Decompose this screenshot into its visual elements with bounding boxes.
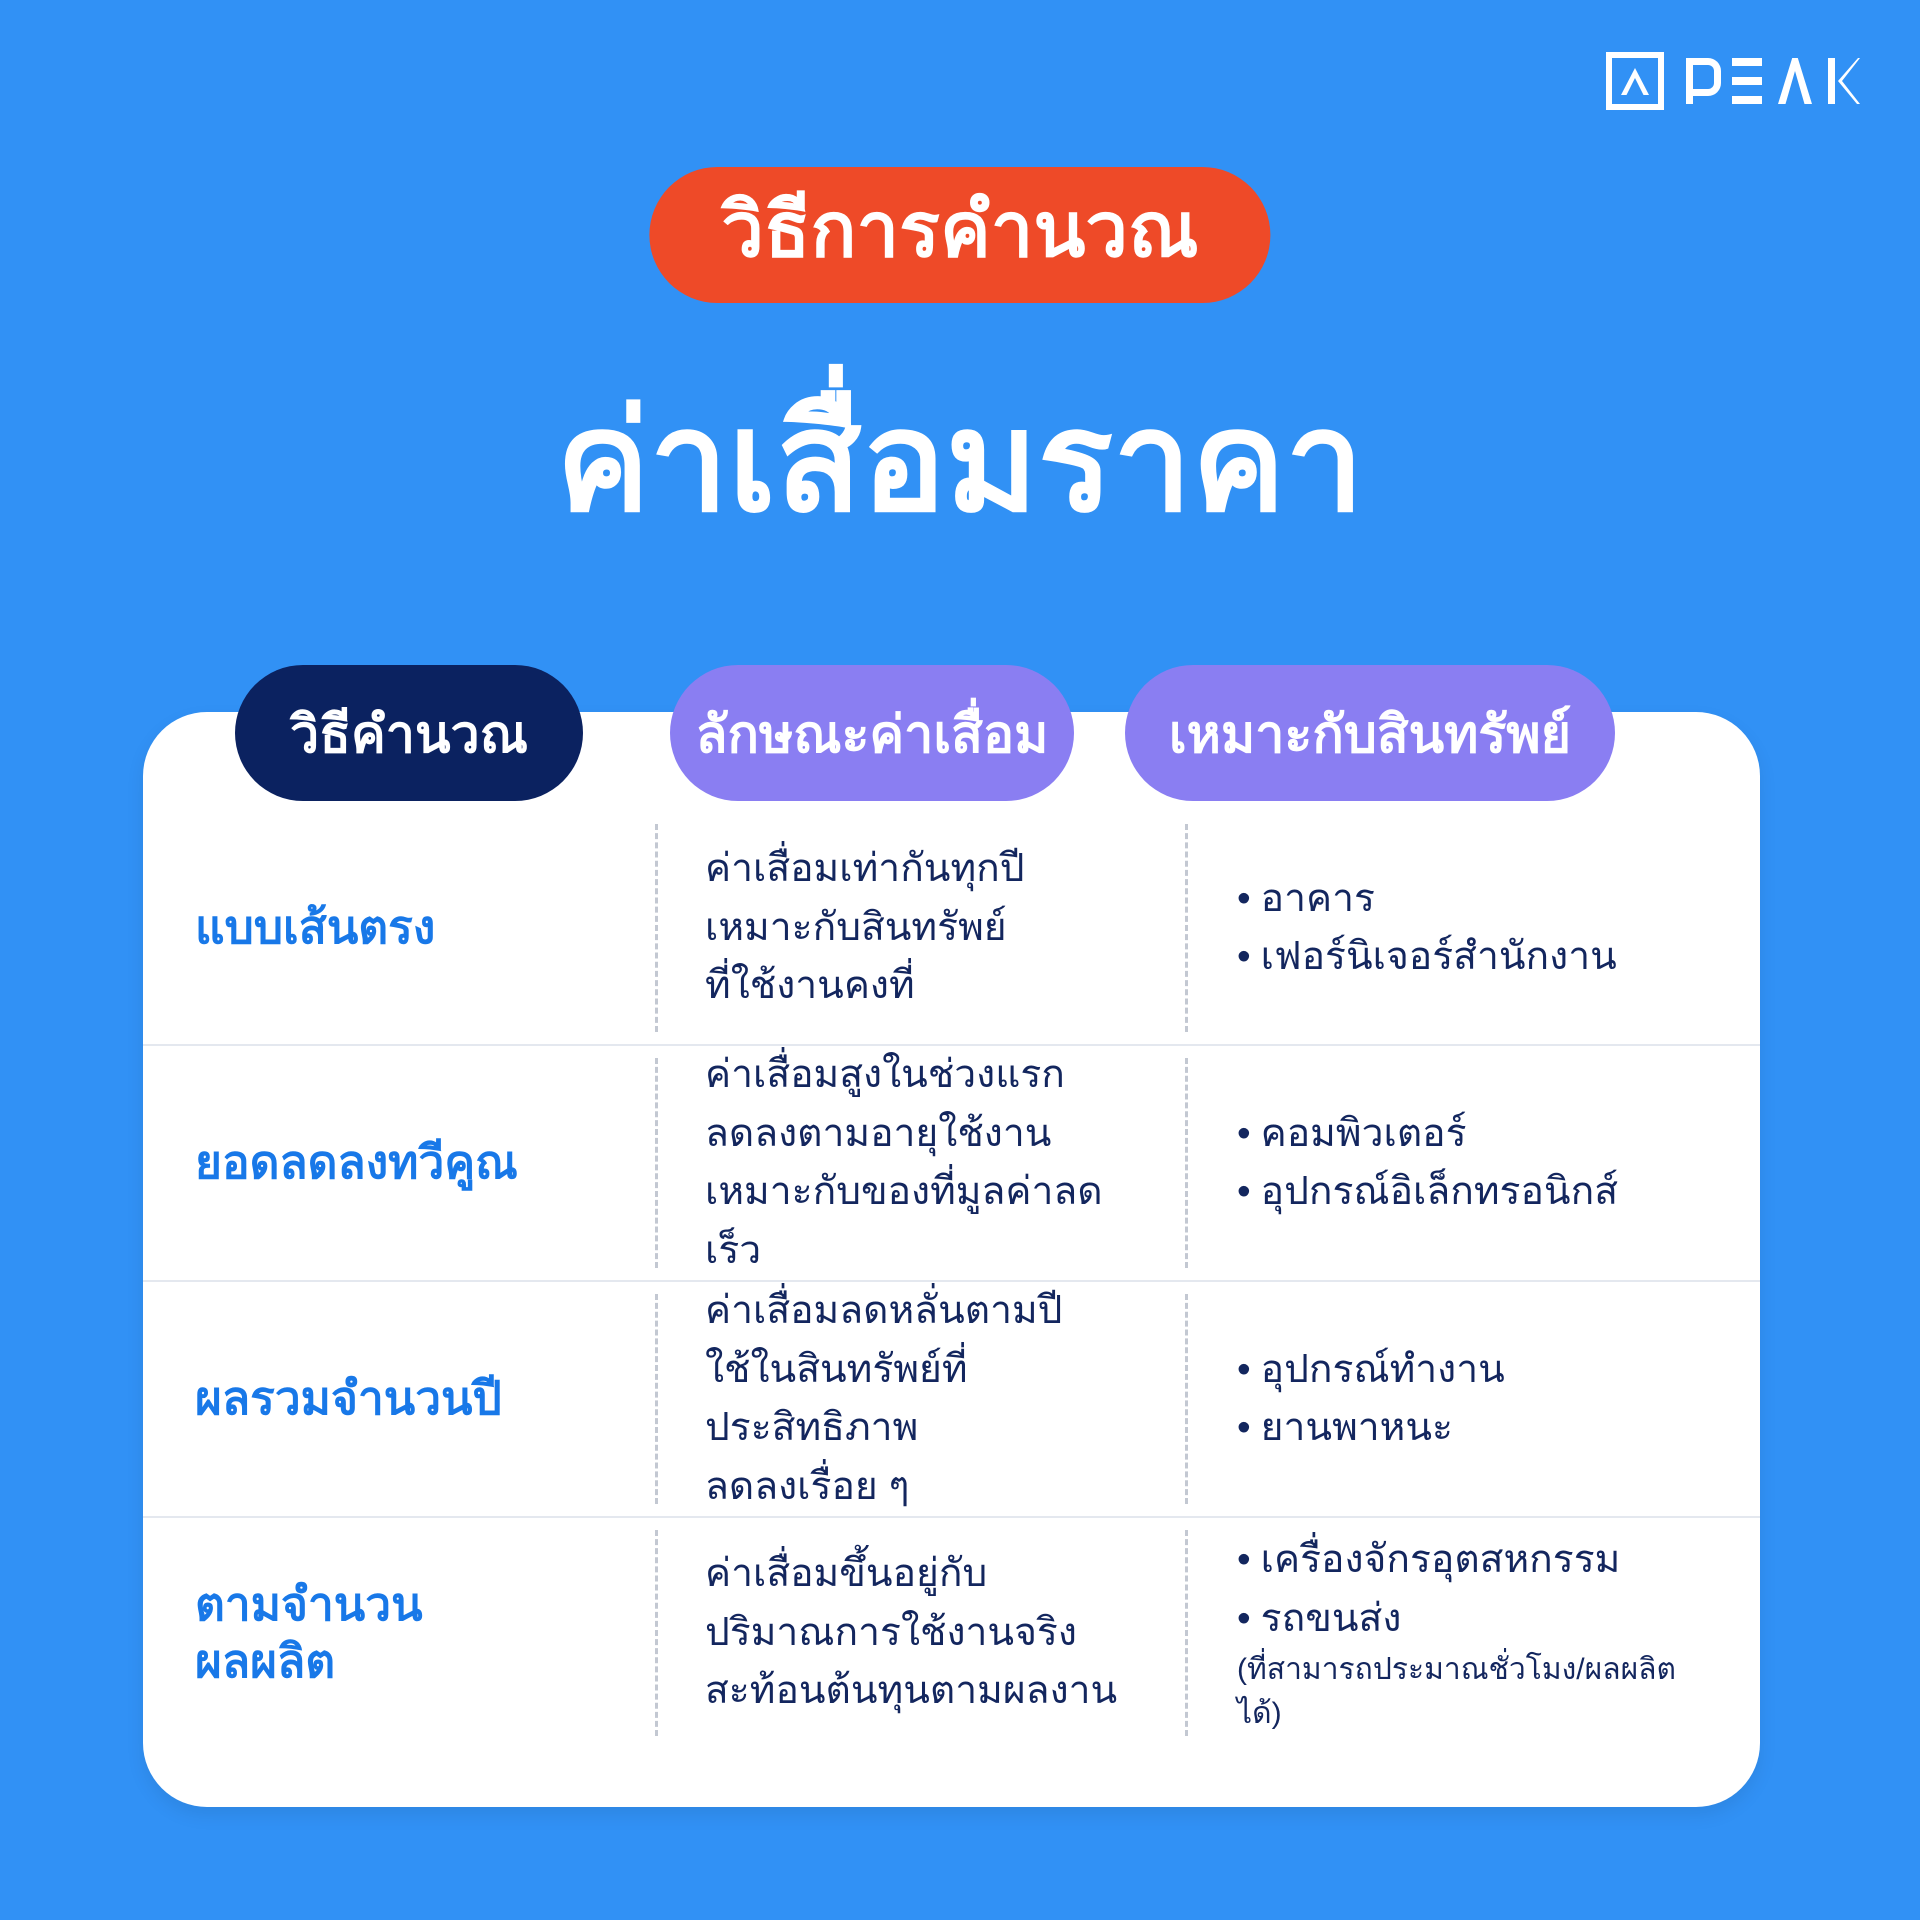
peak-logo-mark-icon	[1606, 52, 1664, 110]
row-assets: อาคาร เฟอร์นิเจอร์สำนักงาน	[1185, 870, 1760, 987]
row-assets: เครื่องจักรอุตสหกรรม รถขนส่ง (ที่สามารถป…	[1185, 1531, 1760, 1735]
list-item: เฟอร์นิเจอร์สำนักงาน	[1237, 928, 1720, 987]
column-header-assets: เหมาะกับสินทรัพย์	[1125, 665, 1615, 801]
row-description: ค่าเสื่อมขึ้นอยู่กับปริมาณการใช้งานจริงส…	[655, 1545, 1185, 1721]
kicker-badge: วิธีการคำนวณ	[649, 167, 1270, 303]
page-title: ค่าเสื่อมราคา	[556, 385, 1364, 539]
list-item: ยานพาหนะ	[1237, 1399, 1720, 1458]
list-item: เครื่องจักรอุตสหกรรม	[1237, 1531, 1720, 1590]
logo-letter-p-icon	[1686, 58, 1716, 104]
row-description: ค่าเสื่อมลดหลั่นตามปีใช้ในสินทรัพย์ที่ปร…	[655, 1282, 1185, 1516]
list-item: อุปกรณ์ทำงาน	[1237, 1341, 1720, 1400]
column-header-characteristic: ลักษณะค่าเสื่อม	[670, 665, 1074, 801]
logo-letter-k-icon	[1828, 58, 1860, 104]
list-item: รถขนส่ง	[1237, 1590, 1720, 1649]
logo-letter-e-icon	[1732, 58, 1762, 104]
row-assets: คอมพิวเตอร์ อุปกรณ์อิเล็กทรอนิกส์	[1185, 1105, 1760, 1222]
row-assets: อุปกรณ์ทำงาน ยานพาหนะ	[1185, 1341, 1760, 1458]
list-item: คอมพิวเตอร์	[1237, 1105, 1720, 1164]
table-row: ยอดลดลงทวีคูณ ค่าเสื่อมสูงในช่วงแรกลดลงต…	[143, 1044, 1760, 1280]
row-method-name: ผลรวมจำนวนปี	[143, 1370, 655, 1428]
comparison-table: แบบเส้นตรง ค่าเสื่อมเท่ากันทุกปีเหมาะกับ…	[143, 812, 1760, 1748]
row-description: ค่าเสื่อมสูงในช่วงแรกลดลงตามอายุใช้งานเห…	[655, 1046, 1185, 1280]
list-item: อาคาร	[1237, 870, 1720, 929]
table-row: ผลรวมจำนวนปี ค่าเสื่อมลดหลั่นตามปีใช้ในส…	[143, 1280, 1760, 1516]
row-description: ค่าเสื่อมเท่ากันทุกปีเหมาะกับสินทรัพย์ที…	[655, 840, 1185, 1016]
table-row: ตามจำนวนผลผลิต ค่าเสื่อมขึ้นอยู่กับปริมา…	[143, 1516, 1760, 1748]
column-header-method: วิธีคำนวณ	[235, 665, 583, 801]
row-method-name: ยอดลดลงทวีคูณ	[143, 1134, 655, 1192]
logo-letter-a-icon	[1778, 58, 1812, 104]
table-header-pills: วิธีคำนวณ ลักษณะค่าเสื่อม เหมาะกับสินทรั…	[143, 665, 1760, 805]
list-item: อุปกรณ์อิเล็กทรอนิกส์	[1237, 1163, 1720, 1222]
table-row: แบบเส้นตรง ค่าเสื่อมเท่ากันทุกปีเหมาะกับ…	[143, 812, 1760, 1044]
row-method-name: ตามจำนวนผลผลิต	[143, 1576, 655, 1691]
peak-logo: PEAK	[1606, 52, 1860, 110]
row-method-name: แบบเส้นตรง	[143, 899, 655, 957]
peak-logo-wordmark	[1686, 58, 1860, 104]
assets-note: (ที่สามารถประมาณชั่วโมง/ผลผลิตได้)	[1237, 1648, 1720, 1735]
